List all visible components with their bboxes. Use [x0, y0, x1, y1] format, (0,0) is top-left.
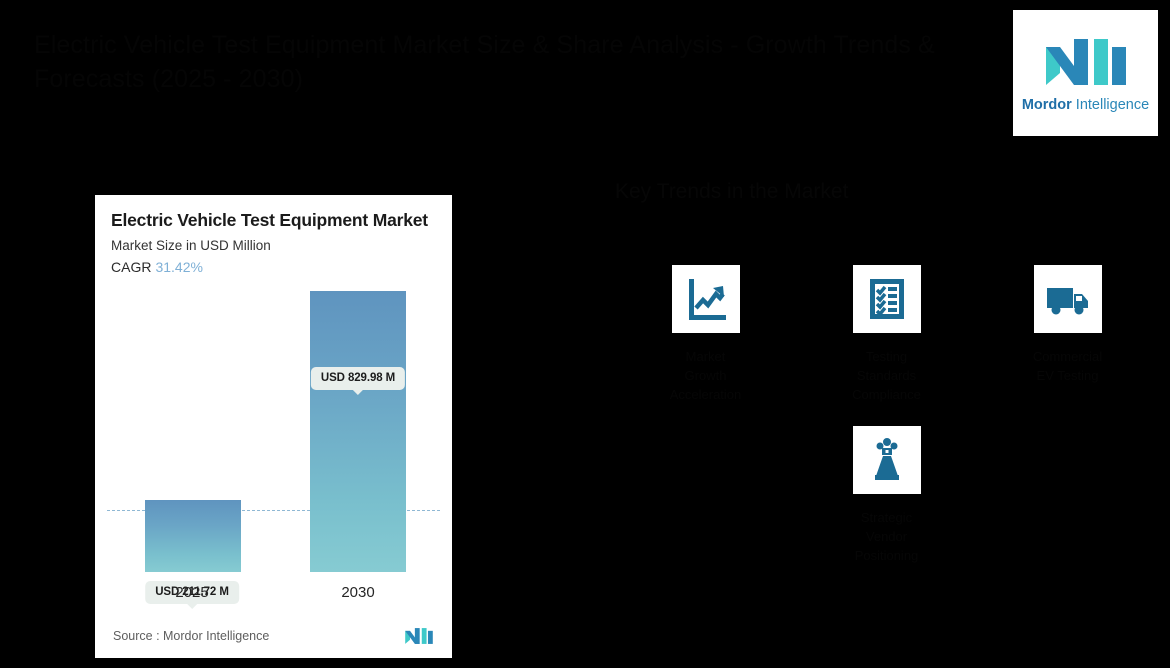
- brand-name: Mordor Intelligence: [1022, 97, 1149, 113]
- truck-icon: [1044, 275, 1092, 323]
- chart-header: Electric Vehicle Test Equipment Market M…: [95, 195, 452, 277]
- trends-title: Key Trends in the Market: [615, 178, 1155, 206]
- trend-icon-box: [853, 426, 921, 494]
- growth-chart-icon: [682, 275, 730, 323]
- trends-row-1: Market Growth Acceleration Testing Stand…: [615, 265, 1160, 404]
- chart-cagr: CAGR31.42%: [111, 258, 436, 277]
- brand-logo-panel: Mordor Intelligence: [1013, 10, 1158, 136]
- chart-subtitle: Market Size in USD Million: [111, 237, 436, 255]
- trend-caption: Strategic Vendor Positioning: [855, 508, 919, 565]
- trend-caption: Commercial EV Testing: [1033, 347, 1102, 385]
- trend-item-commercial-ev[interactable]: Commercial EV Testing: [977, 265, 1158, 404]
- trends-header: Key Trends in the Market: [615, 178, 1155, 206]
- page-header: Electric Vehicle Test Equipment Market S…: [34, 28, 974, 96]
- value-label-2030: USD 829.98 M: [311, 367, 405, 390]
- x-axis-label-2025: 2025: [175, 584, 208, 601]
- bar-column-2025: [142, 291, 242, 572]
- chart-footer: Source : Mordor Intelligence: [95, 613, 452, 658]
- trend-item-testing-standards[interactable]: Testing Standards Compliance: [796, 265, 977, 404]
- trends-row-2: Strategic Vendor Positioning: [615, 426, 1160, 565]
- bar-group: [95, 291, 452, 572]
- cagr-label: CAGR: [111, 259, 151, 275]
- checklist-icon: [863, 275, 911, 323]
- trend-caption: Market Growth Acceleration: [670, 347, 742, 404]
- market-size-chart-card: Electric Vehicle Test Equipment Market M…: [95, 195, 452, 658]
- bar-column-2030: [307, 291, 407, 572]
- trend-icon-box: [672, 265, 740, 333]
- bar-2030[interactable]: [310, 291, 406, 572]
- bar-2025[interactable]: [145, 500, 241, 572]
- trend-caption: Testing Standards Compliance: [852, 347, 921, 404]
- chart-title: Electric Vehicle Test Equipment Market: [111, 209, 436, 231]
- trend-icon-box: [1034, 265, 1102, 333]
- brand-name-bold: Mordor: [1022, 97, 1072, 113]
- brand-name-light: Intelligence: [1072, 97, 1149, 113]
- x-axis-label-2030: 2030: [341, 584, 374, 601]
- cagr-value: 31.42%: [155, 259, 202, 275]
- trend-item-market-growth[interactable]: Market Growth Acceleration: [615, 265, 796, 404]
- trends-icon-grid: Market Growth Acceleration Testing Stand…: [615, 265, 1160, 565]
- footer-mordor-mark-icon: [404, 626, 434, 646]
- trend-item-strategic-positioning[interactable]: Strategic Vendor Positioning: [796, 426, 977, 565]
- page-title: Electric Vehicle Test Equipment Market S…: [34, 28, 974, 96]
- source-label: Source : Mordor Intelligence: [113, 629, 269, 643]
- chart-plot-area: USD 211.72 M USD 829.98 M 2025 2030: [95, 291, 452, 613]
- mordor-intelligence-logo-icon: [1044, 33, 1128, 91]
- trend-icon-box: [853, 265, 921, 333]
- chess-piece-icon: [863, 436, 911, 484]
